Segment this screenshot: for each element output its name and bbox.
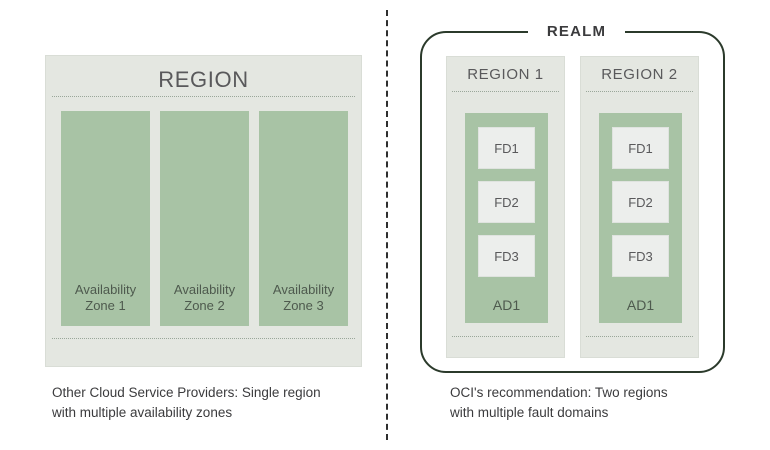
region-2-top-divider [586, 91, 693, 92]
caption-left: Other Cloud Service Providers: Single re… [52, 383, 382, 422]
availability-domain-1-region-2: FD1 FD2 FD3 AD1 [599, 113, 682, 323]
fault-domain-1-region-2: FD1 [612, 127, 669, 169]
region-panel-2: REGION 2 FD1 FD2 FD3 AD1 [580, 56, 699, 358]
region-1-title: REGION 1 [447, 66, 564, 83]
region-title: REGION [46, 67, 361, 93]
availability-zone-3-label: Availability Zone 3 [259, 282, 348, 314]
region-top-divider [52, 96, 355, 97]
region-bottom-divider [52, 338, 355, 339]
availability-zone-3: Availability Zone 3 [259, 111, 348, 326]
realm-label: REALM [528, 14, 625, 48]
region-1-bottom-divider [452, 336, 559, 337]
availability-domain-1-region-1: FD1 FD2 FD3 AD1 [465, 113, 548, 323]
panel-divider [386, 10, 388, 440]
availability-domain-1-region-2-label: AD1 [599, 297, 682, 314]
architecture-diagram: REGION Availability Zone 1 Availability … [0, 0, 770, 450]
region-panel-left: REGION Availability Zone 1 Availability … [45, 55, 362, 367]
availability-zone-1: Availability Zone 1 [61, 111, 150, 326]
region-2-bottom-divider [586, 336, 693, 337]
caption-right: OCI's recommendation: Two regions with m… [450, 383, 740, 422]
region-2-title: REGION 2 [581, 66, 698, 83]
availability-zone-2: Availability Zone 2 [160, 111, 249, 326]
region-1-top-divider [452, 91, 559, 92]
region-panel-1: REGION 1 FD1 FD2 FD3 AD1 [446, 56, 565, 358]
availability-domain-1-region-1-label: AD1 [465, 297, 548, 314]
fault-domain-3-region-1: FD3 [478, 235, 535, 277]
availability-zone-1-label: Availability Zone 1 [61, 282, 150, 314]
fault-domain-2-region-2: FD2 [612, 181, 669, 223]
fault-domain-2-region-1: FD2 [478, 181, 535, 223]
fault-domain-3-region-2: FD3 [612, 235, 669, 277]
availability-zone-2-label: Availability Zone 2 [160, 282, 249, 314]
fault-domain-1-region-1: FD1 [478, 127, 535, 169]
